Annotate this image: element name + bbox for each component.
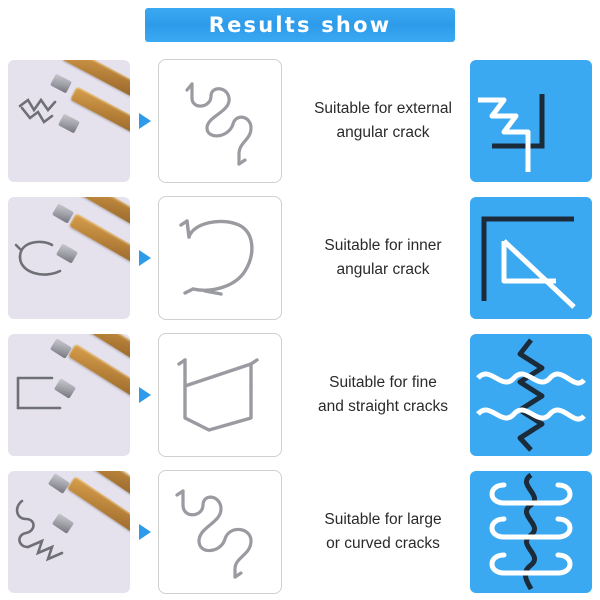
illustration-inner-angular-crack <box>470 197 592 319</box>
arrow-right-icon <box>136 523 154 541</box>
caption-fine-straight: Suitable for fine and straight cracks <box>282 371 470 418</box>
caption-line-1: Suitable for external <box>304 97 462 120</box>
illustration-external-angular-crack <box>470 60 592 182</box>
arrow-right-icon <box>136 249 154 267</box>
rows-container: Suitable for external angular crack <box>0 52 600 600</box>
photo-welder-with-flat-staple <box>8 334 130 456</box>
row-external-angular: Suitable for external angular crack <box>0 52 600 189</box>
caption-large-curved: Suitable for large or curved cracks <box>282 508 470 555</box>
results-show-infographic: Results show <box>0 0 600 600</box>
caption-line-2: or curved cracks <box>304 532 462 555</box>
illustration-large-curved-crack <box>470 471 592 593</box>
caption-line-2: angular crack <box>304 121 462 144</box>
row-inner-angular: Suitable for inner angular crack <box>0 189 600 326</box>
row-fine-straight: Suitable for fine and straight cracks <box>0 326 600 463</box>
photo-welder-with-s-staple <box>8 471 130 593</box>
caption-line-2: angular crack <box>304 258 462 281</box>
caption-line-2: and straight cracks <box>304 395 462 418</box>
title-banner: Results show <box>145 8 455 42</box>
staple-u-shape <box>158 196 282 320</box>
photo-welder-with-wave-staple <box>8 60 130 182</box>
caption-line-1: Suitable for fine <box>304 371 462 394</box>
page-title: Results show <box>209 13 392 37</box>
arrow-right-icon <box>136 112 154 130</box>
staple-flat-shape <box>158 333 282 457</box>
title-area: Results show <box>0 8 600 42</box>
arrow-right-icon <box>136 386 154 404</box>
caption-inner-angular: Suitable for inner angular crack <box>282 234 470 281</box>
caption-line-1: Suitable for inner <box>304 234 462 257</box>
caption-line-1: Suitable for large <box>304 508 462 531</box>
caption-external-angular: Suitable for external angular crack <box>282 97 470 144</box>
staple-wave-shape <box>158 59 282 183</box>
row-large-curved: Suitable for large or curved cracks <box>0 463 600 600</box>
staple-s-shape <box>158 470 282 594</box>
photo-welder-with-u-staple <box>8 197 130 319</box>
illustration-fine-straight-crack <box>470 334 592 456</box>
